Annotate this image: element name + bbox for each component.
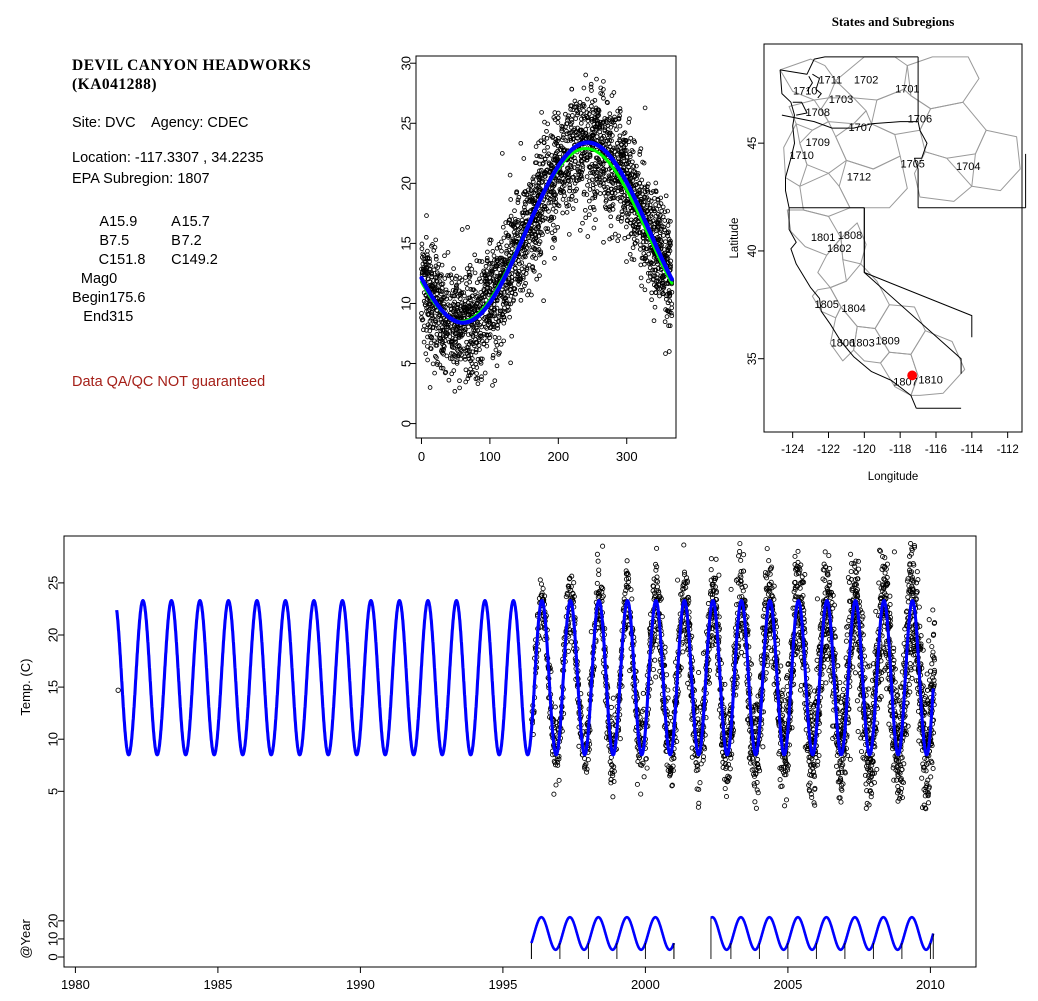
y-tick-label: 5	[399, 360, 414, 367]
subregion-label: 1710	[793, 85, 817, 97]
wateryear-tick-label: 2000	[631, 977, 660, 992]
epa-subregion-label: EPA Subregion: 1807	[72, 169, 372, 189]
parameter-key: B	[72, 233, 109, 252]
parameter-value: 0	[109, 271, 171, 290]
title-line-2: (KA041288)	[72, 76, 157, 93]
parameter-value: 7.5	[109, 233, 171, 252]
map-y-tick-label: 35	[747, 352, 759, 365]
states-subregions-map: States and Subregions1711170217011710170…	[728, 12, 1038, 492]
subregion-label: 1705	[900, 159, 924, 171]
site-info-panel: DEVIL CANYON HEADWORKS(KA041288) Site: D…	[72, 56, 372, 390]
parameter-table: A15.9A15.7B7.5B7.2C151.8C149.2Mag0Begin1…	[72, 214, 372, 328]
parameter-value: 315	[109, 309, 171, 328]
scatter-points	[420, 73, 674, 393]
x-tick-label: 100	[479, 449, 501, 464]
subregion-label: 1711	[818, 75, 842, 87]
wateryear-tick-label: 1985	[203, 977, 232, 992]
temp-y-axis: 510152025	[46, 576, 65, 795]
map-frame	[764, 44, 1022, 432]
fitted-sinusoid-curve	[117, 601, 934, 755]
seasonal-scatter-plot: 0510152025300100200300	[386, 46, 686, 471]
x-axis: 0100200300	[418, 438, 638, 464]
title-line-1: DEVIL CANYON HEADWORKS	[72, 57, 311, 74]
y-tick-label: 15	[399, 236, 414, 250]
parameter-value-secondary	[182, 271, 244, 290]
subregion-label: 1710	[789, 150, 813, 162]
x-tick-label: 200	[547, 449, 569, 464]
parameter-key: Mag	[72, 271, 109, 290]
qaqc-warning: Data QA/QC NOT guaranteed	[72, 374, 372, 390]
y-tick-label: 0	[399, 420, 414, 427]
subregion-label: 1808	[838, 230, 862, 242]
subpanel-y-axis: 01020	[46, 914, 65, 961]
parameter-key: Begin	[72, 290, 109, 309]
plot-frame	[416, 56, 676, 438]
x-tick-label: 0	[418, 449, 425, 464]
subpanel-y-tick-label: 20	[46, 914, 61, 928]
parameter-row: C151.8C149.2	[72, 252, 244, 271]
page-title: DEVIL CANYON HEADWORKS(KA041288)	[72, 56, 372, 94]
subregion-label: 1704	[956, 161, 980, 173]
y-axis: 051015202530	[399, 56, 417, 427]
temp-y-tick-label: 20	[46, 628, 61, 642]
subregion-label: 1701	[895, 83, 919, 95]
agency-label: Agency: CDEC	[151, 115, 249, 131]
subregion-label: 1708	[806, 107, 830, 119]
subregion-label: 1804	[841, 303, 865, 315]
map-x-tick-label: -124	[781, 444, 805, 456]
subpanel-y-axis-label: @Year	[18, 919, 33, 959]
wateryear-tick-label: 1980	[61, 977, 90, 992]
wateryear-tick-label: 2005	[773, 977, 802, 992]
wateryear-tick-label: 2010	[916, 977, 945, 992]
subpanel-y-tick-label: 10	[46, 932, 61, 946]
parameter-key-secondary	[171, 271, 181, 290]
site-marker-icon	[908, 371, 917, 380]
parameter-key-secondary	[171, 309, 181, 328]
timeseries-plot: 510152025Temp. (C)01020@Year198019851990…	[8, 520, 1030, 998]
parameter-row: A15.9A15.7	[72, 214, 244, 233]
temp-y-tick-label: 5	[46, 788, 61, 795]
parameter-key: End	[72, 309, 109, 328]
site-agency-line: Site: DVC Agency: CDEC	[72, 113, 372, 133]
parameter-key: A	[72, 214, 109, 233]
y-tick-label: 20	[399, 176, 414, 190]
subregion-label: 1706	[908, 113, 932, 125]
map-title: States and Subregions	[832, 14, 955, 29]
wateryear-tick-label: 1990	[346, 977, 375, 992]
parameter-row: End315	[72, 309, 244, 328]
subregion-label: 1707	[849, 122, 873, 134]
map-y-axis-label: Latitude	[729, 218, 741, 259]
map-x-axis-label: Longitude	[868, 471, 919, 483]
wateryear-tick-label: 1995	[488, 977, 517, 992]
subregion-label: 1802	[827, 243, 851, 255]
parameter-value-secondary	[182, 309, 244, 328]
parameter-row: B7.5B7.2	[72, 233, 244, 252]
subpanel-y-tick-label: 0	[46, 953, 61, 960]
temp-y-tick-label: 10	[46, 732, 61, 746]
map-x-tick-label: -122	[817, 444, 840, 456]
subregion-label: 1809	[875, 335, 899, 347]
y-tick-label: 30	[399, 56, 414, 70]
wateryear-x-axis: 1980198519901995200020052010	[61, 967, 945, 992]
map-x-tick-label: -112	[997, 444, 1019, 456]
map-x-tick-label: -118	[889, 444, 911, 456]
parameter-value: 15.9	[109, 214, 171, 233]
subregion-label: 1712	[847, 172, 871, 184]
parameter-key-secondary: C	[171, 252, 181, 271]
map-y-axis: 354045	[747, 137, 764, 365]
map-x-tick-label: -116	[925, 444, 947, 456]
parameter-value: 175.6	[109, 290, 171, 309]
temp-y-tick-label: 25	[46, 576, 61, 590]
subregion-label: 1803	[850, 338, 874, 350]
parameter-value-secondary	[182, 290, 244, 309]
subregion-label: 1805	[814, 299, 838, 311]
parameter-key-secondary: A	[171, 214, 181, 233]
y-tick-label: 25	[399, 116, 414, 130]
parameter-key: C	[72, 252, 109, 271]
map-y-tick-label: 40	[747, 245, 759, 258]
parameter-row: Mag0	[72, 271, 244, 290]
subregion-label: 1810	[918, 374, 942, 386]
parameter-value-secondary: 15.7	[182, 214, 244, 233]
subregion-label: 1702	[854, 75, 878, 87]
observed-points	[116, 541, 937, 810]
parameter-value: 151.8	[109, 252, 171, 271]
site-label: Site: DVC	[72, 115, 136, 131]
x-tick-label: 300	[616, 449, 638, 464]
map-x-axis: -124-122-120-118-116-114-112	[781, 432, 1019, 456]
parameter-value-secondary: 7.2	[182, 233, 244, 252]
parameter-row: Begin175.6	[72, 290, 244, 309]
map-y-tick-label: 45	[747, 137, 759, 150]
map-x-tick-label: -114	[961, 444, 984, 456]
subregion-label: 1709	[806, 137, 830, 149]
temp-y-tick-label: 15	[46, 680, 61, 694]
parameter-value-secondary: 149.2	[182, 252, 244, 271]
y-tick-label: 10	[399, 296, 414, 310]
subregion-label: 1703	[829, 94, 853, 106]
parameter-key-secondary: B	[171, 233, 181, 252]
parameter-table-body: A15.9A15.7B7.5B7.2C151.8C149.2Mag0Begin1…	[72, 214, 244, 328]
map-x-tick-label: -120	[853, 444, 876, 456]
location-label: Location: -117.3307 , 34.2235	[72, 148, 372, 168]
parameter-key-secondary	[171, 290, 181, 309]
temp-y-axis-label: Temp. (C)	[18, 659, 33, 716]
subpanel-counts	[531, 917, 933, 959]
